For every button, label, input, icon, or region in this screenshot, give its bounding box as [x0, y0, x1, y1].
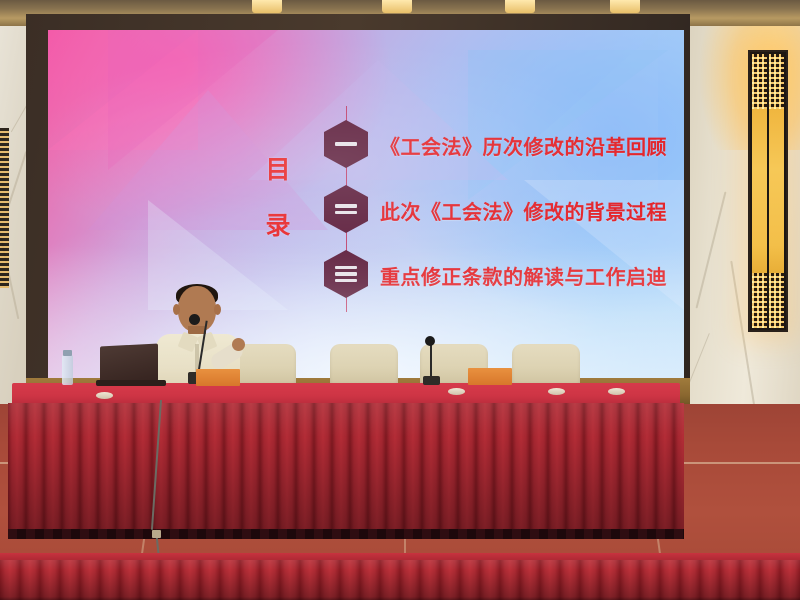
laptop [100, 343, 158, 384]
name-card [468, 368, 512, 385]
agenda-item-2-text: 此次《工会法》修改的背景过程 [380, 196, 667, 225]
microphone-icon [189, 314, 200, 325]
photo-scene: 目 录 《工会法》历次修改的沿革回顾 [0, 0, 800, 600]
microphone-icon [425, 336, 435, 346]
saucer [608, 388, 625, 395]
laptop-base [96, 380, 166, 386]
water-bottle [62, 355, 73, 385]
agenda-item-1-text: 《工会法》历次修改的沿革回顾 [380, 131, 667, 160]
projection-screen: 目 录 《工会法》历次修改的沿革回顾 [48, 30, 684, 378]
wall-sconce-left-icon [0, 128, 9, 288]
microphone-base [423, 376, 440, 385]
toc-label-char-2: 录 [248, 214, 308, 239]
saucer [96, 392, 113, 399]
agenda-item-3-text: 重点修正条款的解读与工作启迪 [380, 261, 667, 290]
agenda-list: 《工会法》历次修改的沿革回顾 此次《工会法》修改的背景过程 [324, 120, 684, 315]
bottle-cap-icon [63, 350, 72, 356]
hexagon-badge-two [324, 185, 368, 233]
toc-vertical-label: 目 录 [248, 158, 308, 239]
chair [330, 344, 398, 386]
ceiling-downlight [505, 0, 535, 13]
saucer [448, 388, 465, 395]
cable-connector [152, 530, 161, 538]
hexagon-badge-one [324, 120, 368, 168]
wall-sconce-icon [748, 50, 788, 332]
ceiling-downlight [610, 0, 640, 13]
saucer [548, 388, 565, 395]
ceiling-downlight [252, 0, 282, 13]
foreground-table-skirt [0, 560, 800, 600]
agenda-item-3: 重点修正条款的解读与工作启迪 [324, 250, 684, 315]
name-card [196, 369, 240, 386]
head-table-skirt [8, 403, 684, 539]
agenda-item-2: 此次《工会法》修改的背景过程 [324, 185, 684, 250]
ceiling-downlight [382, 0, 412, 13]
toc-label-char-1: 目 [248, 158, 308, 183]
agenda-item-1: 《工会法》历次修改的沿革回顾 [324, 120, 684, 185]
hexagon-badge-three [324, 250, 368, 298]
chair [512, 344, 580, 386]
